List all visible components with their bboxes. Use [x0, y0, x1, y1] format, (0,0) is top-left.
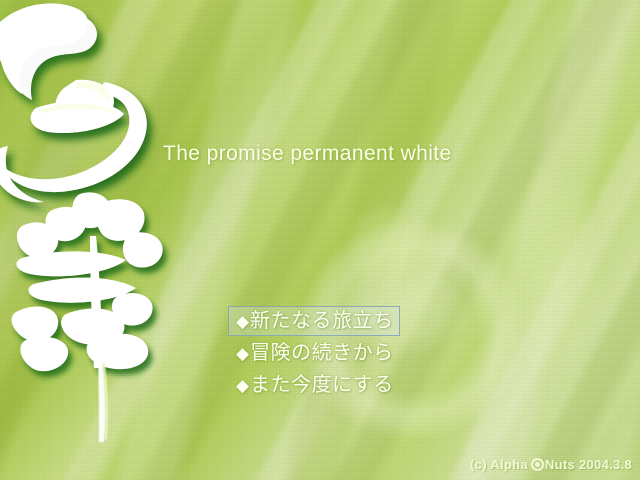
- circled-dot-icon: [531, 458, 544, 471]
- menu-item-exit[interactable]: ◆ また今度にする: [228, 370, 403, 400]
- copyright-suffix: Nuts: [545, 457, 575, 472]
- diamond-bullet-icon: ◆: [236, 313, 249, 330]
- subtitle-text: The promise permanent white: [163, 142, 452, 166]
- main-menu: ◆ 新たなる旅立ち ◆ 冒険の続きから ◆ また今度にする: [228, 306, 403, 402]
- menu-item-label: 冒険の続きから: [250, 343, 394, 363]
- copyright-notice: (c) Alpha Nuts 2004.3.8: [470, 457, 632, 472]
- menu-item-label: また今度にする: [250, 375, 394, 395]
- title-screen: The promise permanent white ◆ 新たなる旅立ち ◆ …: [0, 0, 640, 480]
- diamond-bullet-icon: ◆: [236, 345, 249, 362]
- menu-item-continue[interactable]: ◆ 冒険の続きから: [228, 338, 403, 368]
- copyright-date: 2004.3.8: [579, 457, 632, 472]
- menu-item-label: 新たなる旅立ち: [250, 311, 394, 331]
- copyright-prefix: (c) Alpha: [470, 457, 528, 472]
- menu-item-new-game[interactable]: ◆ 新たなる旅立ち: [228, 306, 400, 336]
- diamond-bullet-icon: ◆: [236, 377, 249, 394]
- title-logo-calligraphy: [0, 0, 216, 446]
